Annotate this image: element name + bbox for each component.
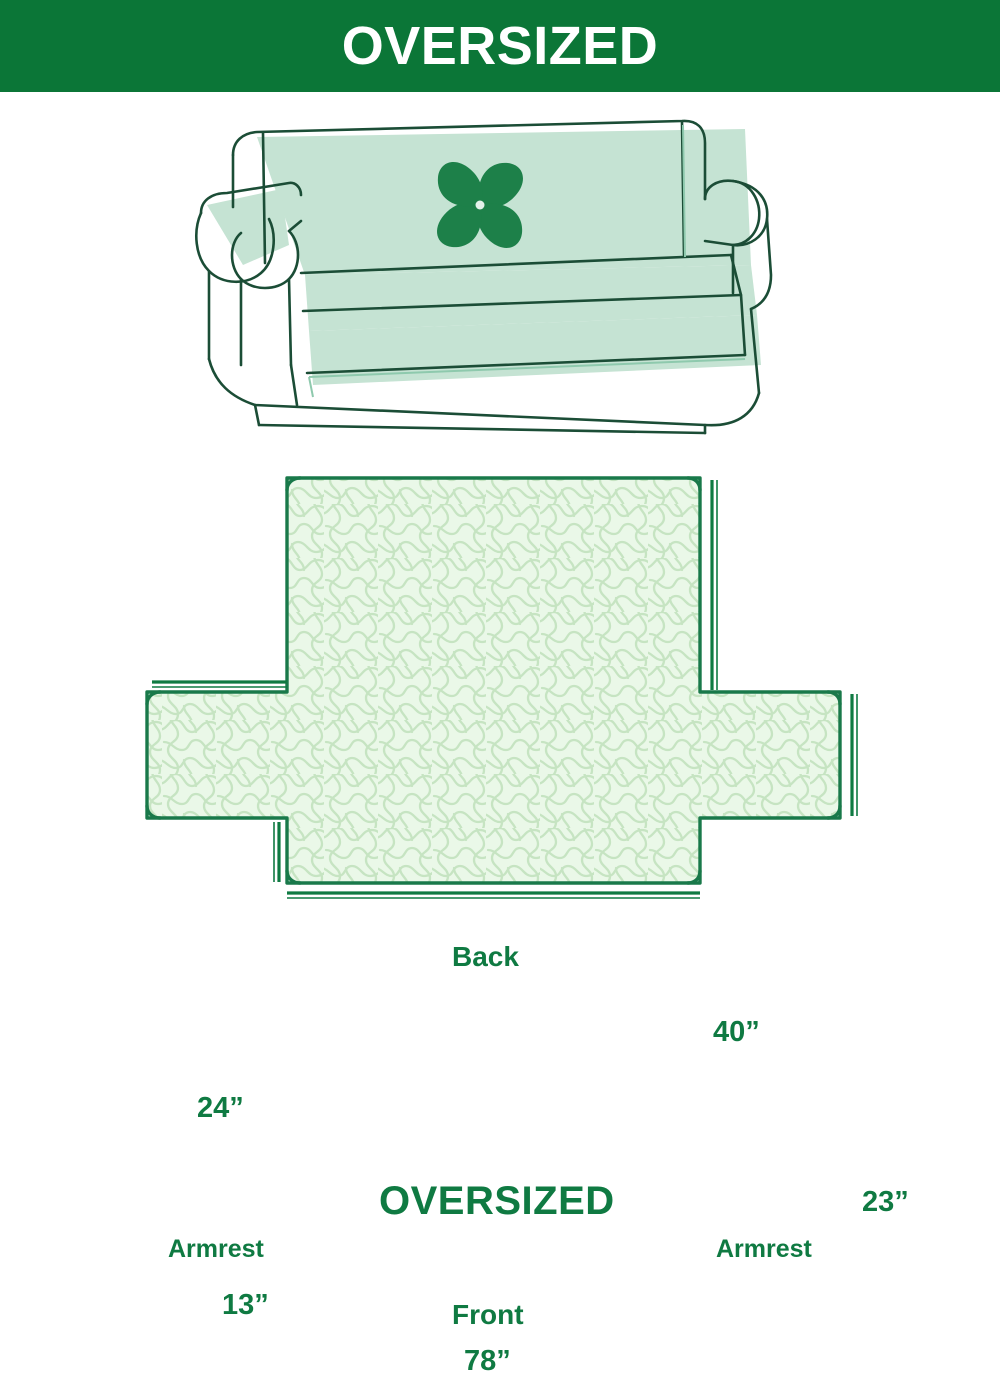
dimension-line-78 [287,893,700,898]
dimension-value-23: 23” [862,1188,909,1217]
diagram-center-label: OVERSIZED [379,1181,615,1221]
header-banner: OVERSIZED [0,0,1000,92]
sofa-left-arm-inner-fill [207,189,289,265]
dimension-value-24: 24” [197,1094,244,1123]
panel-label-back: Back [452,943,519,971]
dimension-diagram: Back Armrest Armrest Front OVERSIZED 24”… [0,450,1000,950]
dimension-value-13: 13” [222,1291,269,1320]
panel-label-armrest-left: Armrest [168,1237,264,1262]
dimension-line-23 [852,694,857,816]
page-title: OVERSIZED [342,19,659,73]
dimension-value-40: 40” [713,1018,760,1047]
dimension-line-40 [712,480,717,690]
dimension-line-13 [274,822,279,882]
dimension-line-24 [152,682,287,687]
panel-label-armrest-right: Armrest [716,1237,812,1262]
panel-label-front: Front [452,1301,524,1329]
sofa-illustration [185,115,815,445]
dimension-value-78: 78” [464,1347,511,1376]
